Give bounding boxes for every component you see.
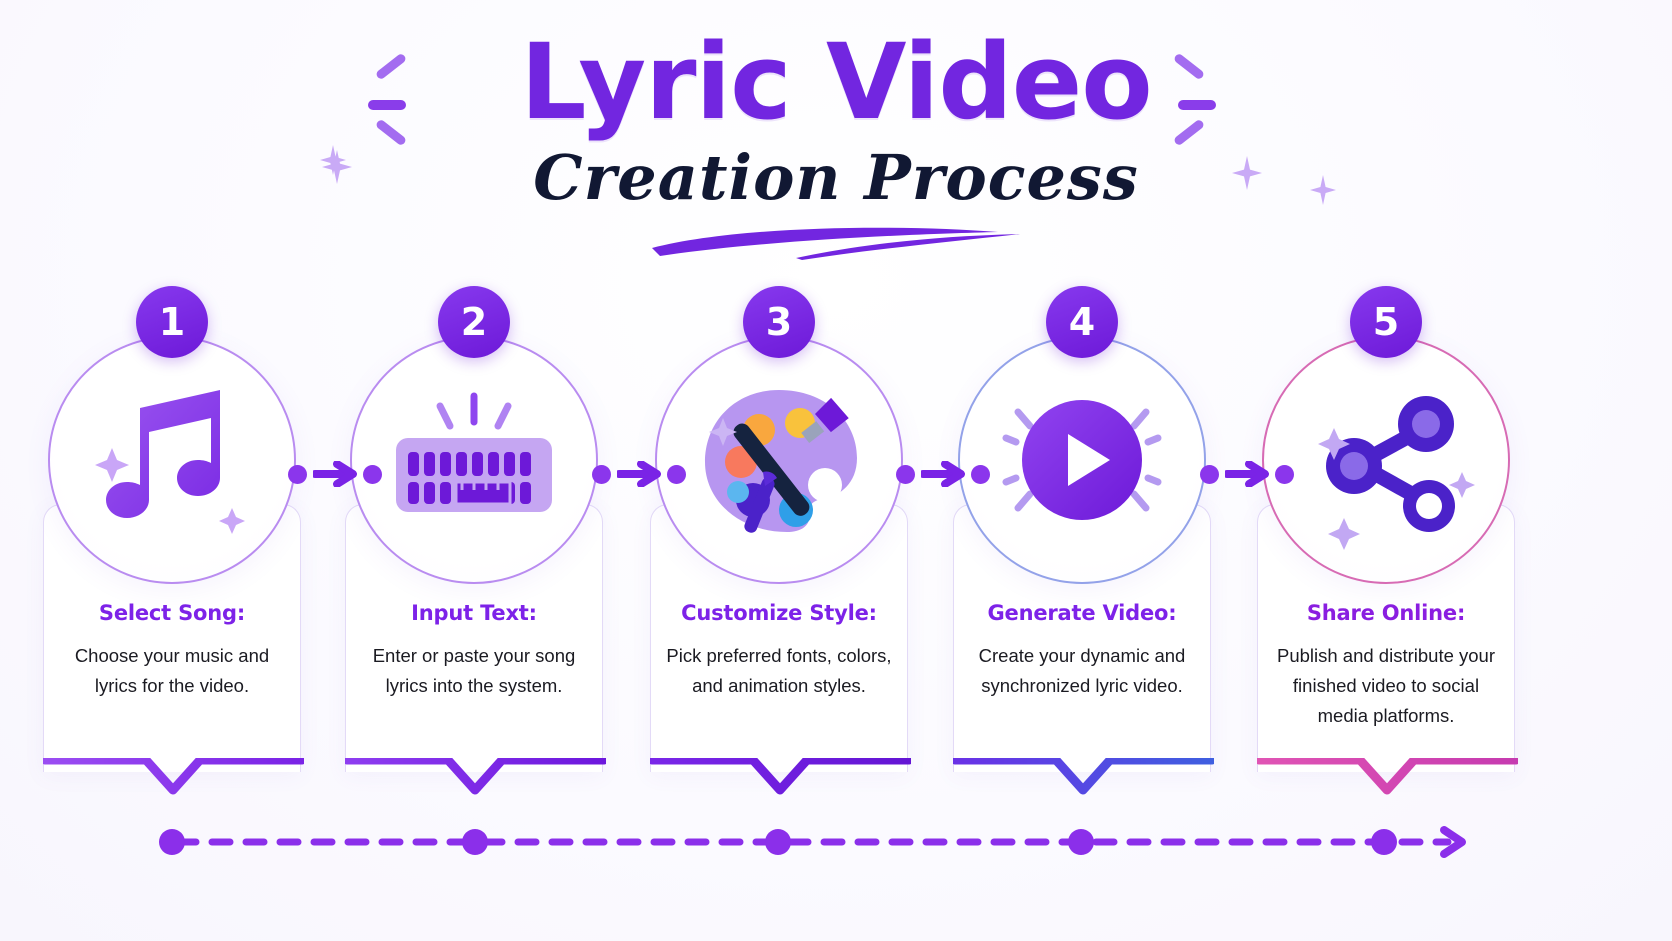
page-title: Lyric Video xyxy=(0,26,1672,138)
step-body-2: Enter or paste your song lyrics into the… xyxy=(360,641,588,701)
step-circle-3 xyxy=(655,336,903,584)
bottom-timeline xyxy=(0,812,1672,872)
connector-dot-icon xyxy=(971,465,990,484)
music-note-icon xyxy=(72,360,272,560)
share-nodes-icon xyxy=(1286,360,1486,560)
connector-2-3 xyxy=(592,457,686,491)
paint-palette-icon xyxy=(679,360,879,560)
arrow-right-icon xyxy=(1225,461,1269,487)
step-circle-4 xyxy=(958,336,1206,584)
step-title-2: Input Text: xyxy=(360,601,588,625)
title-block: Lyric Video Creation Process xyxy=(0,26,1672,213)
step-title-3: Customize Style: xyxy=(665,601,893,625)
step-body-3: Pick preferred fonts, colors, and animat… xyxy=(665,641,893,701)
connector-dot-icon xyxy=(1275,465,1294,484)
infographic-root: Lyric Video Creation Process Select Song… xyxy=(0,0,1672,941)
timeline-dot-icon xyxy=(1068,829,1094,855)
decoration-left xyxy=(360,40,480,230)
brush-underline-icon xyxy=(646,218,1026,262)
timeline-dot-icon xyxy=(1371,829,1397,855)
arrow-right-icon xyxy=(313,461,357,487)
step-circle-2 xyxy=(350,336,598,584)
step-badge-3: 3 xyxy=(743,286,815,358)
step-badge-2: 2 xyxy=(438,286,510,358)
connector-dot-icon xyxy=(1200,465,1219,484)
timeline-dot-icon xyxy=(765,829,791,855)
step-body-4: Create your dynamic and synchronized lyr… xyxy=(968,641,1196,701)
step-title-1: Select Song: xyxy=(58,601,286,625)
card-foot-3 xyxy=(650,758,911,802)
decoration-right xyxy=(1160,40,1290,240)
step-body-5: Publish and distribute your finished vid… xyxy=(1272,641,1500,731)
step-circle-5 xyxy=(1262,336,1510,584)
step-title-4: Generate Video: xyxy=(968,601,1196,625)
connector-dot-icon xyxy=(363,465,382,484)
card-foot-1 xyxy=(43,758,304,802)
card-foot-4 xyxy=(953,758,1214,802)
keyboard-icon xyxy=(374,360,574,560)
step-title-5: Share Online: xyxy=(1272,601,1500,625)
connector-dot-icon xyxy=(667,465,686,484)
card-foot-5 xyxy=(1257,758,1518,802)
steps-row: Select Song: Choose your music and lyric… xyxy=(0,286,1672,786)
connector-1-2 xyxy=(288,457,382,491)
play-button-icon xyxy=(982,360,1182,560)
connector-dot-icon xyxy=(288,465,307,484)
step-badge-5: 5 xyxy=(1350,286,1422,358)
arrow-right-icon xyxy=(617,461,661,487)
step-circle-1 xyxy=(48,336,296,584)
step-badge-1: 1 xyxy=(136,286,208,358)
connector-dot-icon xyxy=(592,465,611,484)
arrow-right-icon xyxy=(921,461,965,487)
timeline-dot-icon xyxy=(462,829,488,855)
page-subtitle: Creation Process xyxy=(0,144,1672,212)
timeline-dot-icon xyxy=(159,829,185,855)
sparkle-icon xyxy=(1232,156,1262,190)
connector-4-5 xyxy=(1200,457,1294,491)
connector-3-4 xyxy=(896,457,990,491)
connector-dot-icon xyxy=(896,465,915,484)
step-body-1: Choose your music and lyrics for the vid… xyxy=(58,641,286,701)
card-foot-2 xyxy=(345,758,606,802)
step-badge-4: 4 xyxy=(1046,286,1118,358)
